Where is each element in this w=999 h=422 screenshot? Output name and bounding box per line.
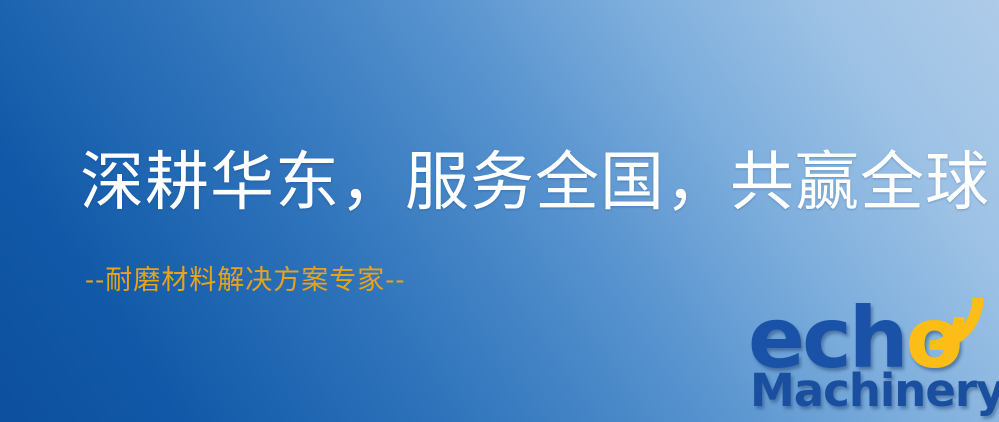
hero-banner: 深耕华东，服务全国，共赢全球 --耐磨材料解决方案专家-- echo Machi… bbox=[0, 0, 999, 422]
banner-headline: 深耕华东，服务全国，共赢全球 bbox=[80, 150, 990, 217]
company-logo: echo Machinery® bbox=[748, 288, 999, 422]
banner-subtitle: --耐磨材料解决方案专家-- bbox=[85, 265, 406, 297]
logo-wordmark-machinery: Machinery® bbox=[750, 368, 999, 413]
logo-machinery-text: Machinery bbox=[750, 364, 999, 417]
